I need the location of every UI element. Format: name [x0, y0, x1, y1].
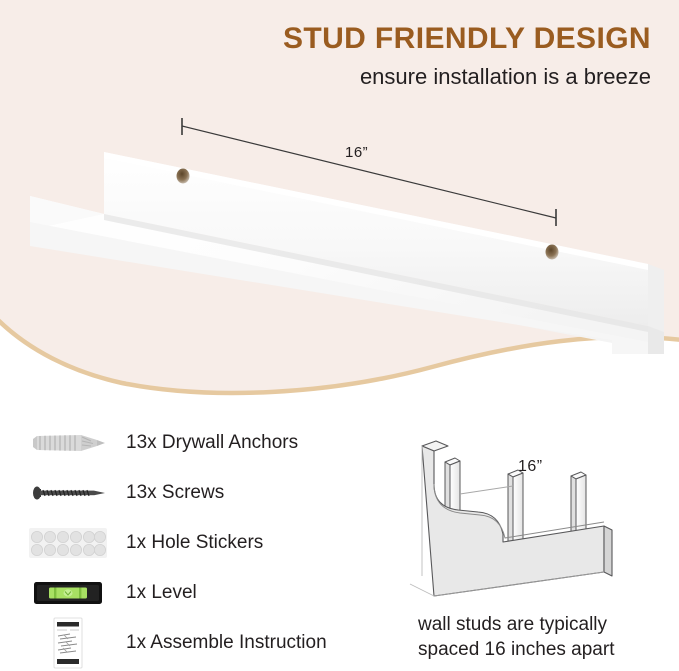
shelf-illustration	[0, 104, 679, 354]
parts-list: 13x Drywall Anchors 13x	[18, 418, 398, 668]
instruction-icon	[18, 620, 118, 666]
list-item-label: 1x Assemble Instruction	[118, 632, 327, 654]
list-item: 1x Level	[18, 568, 398, 618]
drywall-anchor-icon	[18, 420, 118, 466]
list-item: 13x Drywall Anchors	[18, 418, 398, 468]
hole-stickers-icon	[18, 520, 118, 566]
mounting-hole-right	[546, 245, 559, 260]
mounting-hole-left	[177, 169, 190, 184]
stud-caption: wall studs are typically spaced 16 inche…	[418, 612, 676, 662]
wall-stud-diagram	[408, 424, 672, 604]
stud-caption-line-1: wall studs are typically	[418, 612, 676, 637]
stud-caption-line-2: spaced 16 inches apart	[418, 637, 676, 662]
header: STUD FRIENDLY DESIGN ensure installation…	[0, 22, 679, 89]
stud-spacing-line	[460, 486, 513, 494]
product-infographic: STUD FRIENDLY DESIGN ensure installation…	[0, 0, 679, 671]
page-title: STUD FRIENDLY DESIGN	[0, 22, 651, 55]
page-subtitle: ensure installation is a breeze	[0, 64, 651, 89]
stud-dimension-label: 16”	[518, 458, 543, 476]
list-item: 13x Screws	[18, 468, 398, 518]
level-icon	[18, 570, 118, 616]
screw-icon	[18, 470, 118, 516]
list-item-label: 13x Drywall Anchors	[118, 432, 298, 454]
list-item: 1x Assemble Instruction	[18, 618, 398, 668]
list-item-label: 13x Screws	[118, 482, 224, 504]
drywall-bottom-bevel	[410, 584, 434, 596]
list-item-label: 1x Level	[118, 582, 197, 604]
list-item: 1x Hole Stickers	[18, 518, 398, 568]
shelf-dimension-label: 16”	[345, 144, 368, 161]
list-item-label: 1x Hole Stickers	[118, 532, 263, 554]
